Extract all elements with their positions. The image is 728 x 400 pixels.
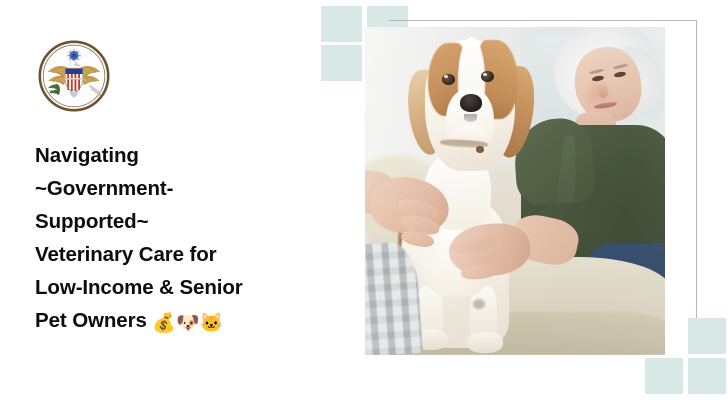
decorative-square-bottom-right-2 [645,358,683,394]
decorative-square-bottom-right-3 [688,358,726,394]
frame-line-top [389,20,697,21]
title-line-1: Navigating [35,139,305,172]
photo-inner [365,27,665,355]
title-line-6-text: Pet Owners [35,309,152,332]
dog-paw-right [467,332,503,353]
decorative-square-bottom-right-1 [688,318,726,354]
senior-woman-with-dog-photo [365,27,665,355]
decorative-square-top-left-3 [321,45,362,81]
title-line-5: Low-Income & Senior [35,271,305,304]
title-line-2: ~Government- [35,172,305,205]
page-title: Navigating ~Government- Supported~ Veter… [35,139,305,340]
great-seal-logo [36,38,112,114]
decorative-square-top-left-1 [321,6,362,42]
title-line-3: Supported~ [35,205,305,238]
title-line-4: Veterinary Care for [35,238,305,271]
dog-collar-tag [476,146,484,153]
frame-line-right [696,20,697,323]
dog-nose [460,94,483,112]
left-content-column: Navigating ~Government- Supported~ Veter… [0,0,318,400]
dog-body-spot [473,299,485,309]
title-emoji-group: 💰🐶🐱 [152,313,223,334]
title-line-6: Pet Owners 💰🐶🐱 [35,304,305,340]
right-media-column [318,0,728,400]
slide-canvas: Navigating ~Government- Supported~ Veter… [0,0,728,400]
